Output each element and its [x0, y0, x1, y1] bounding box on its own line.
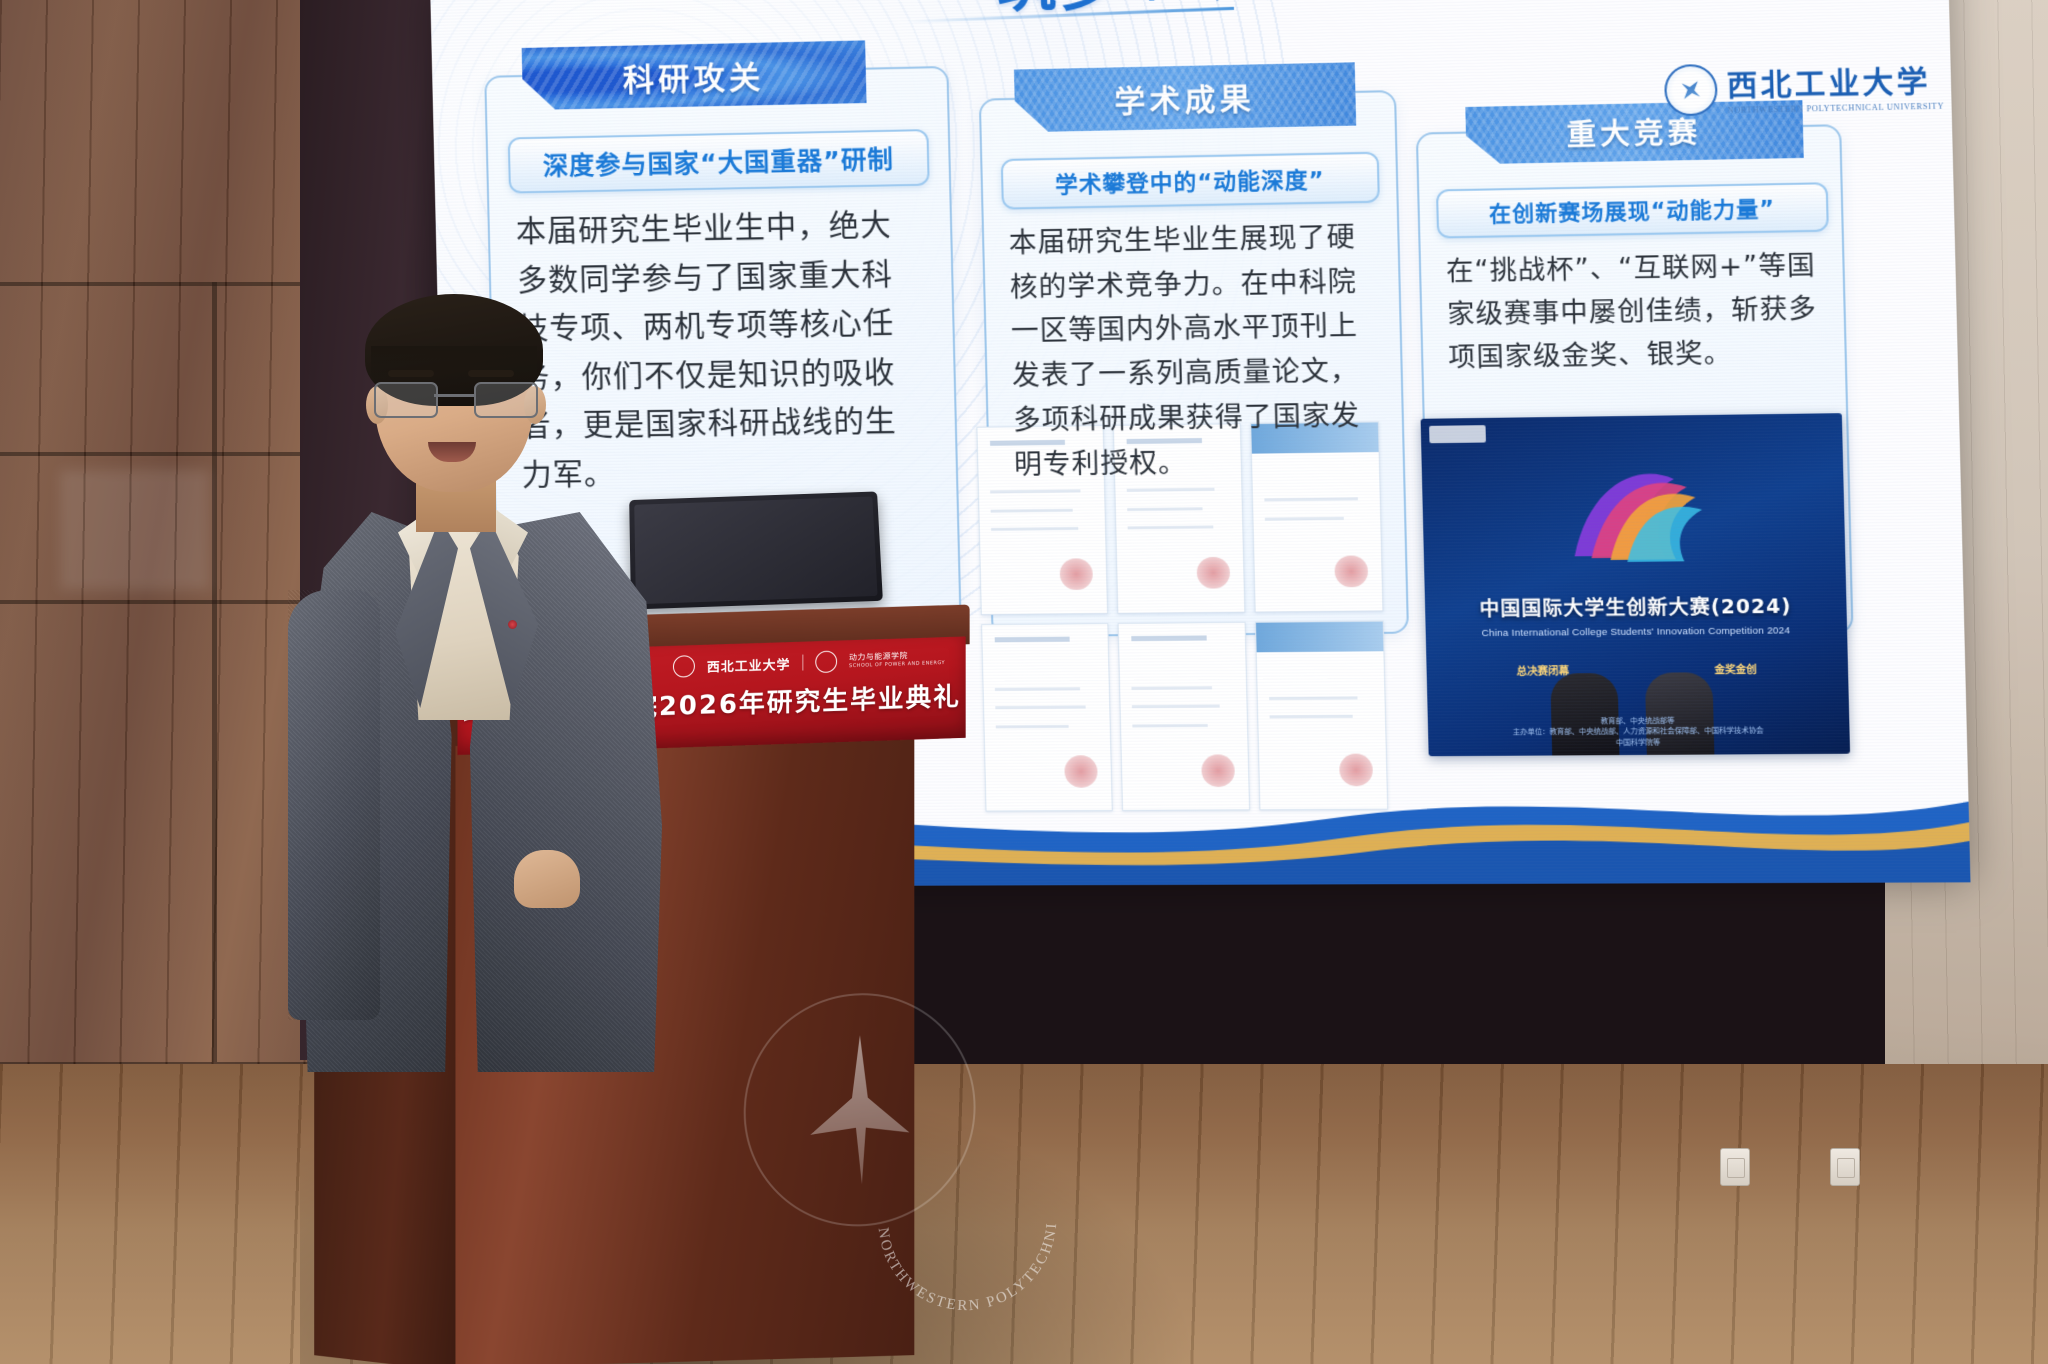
- arm-left: [288, 590, 380, 1020]
- presenter-avatar: [270, 290, 690, 1070]
- school-seal-icon-small: [815, 650, 837, 673]
- glasses-icon: [374, 382, 536, 416]
- panel-subtitle-academic-label: 学术攀登中的“动能深度”: [1055, 162, 1325, 200]
- poster-chip-right: 金奖金创: [1714, 661, 1757, 677]
- lectern-logo-university: 西北工业大学: [707, 653, 791, 675]
- lens-left: [374, 382, 438, 418]
- poster-footer: 教育部、中央统战部等 主办单位：教育部、中央统战部、人力资源和社会保障部、中国科…: [1428, 715, 1850, 750]
- panel-body-academic: 本届研究生毕业生展现了硬核的学术竞争力。在中科院一区等国内外高水平顶刊上发表了一…: [1008, 215, 1378, 487]
- panel-tab-competition-label: 重大竞赛: [1566, 110, 1702, 154]
- university-seal-icon: [1664, 63, 1718, 115]
- competition-ribbon-icon: [1547, 456, 1718, 581]
- eyebrow-right: [468, 370, 514, 377]
- logo-divider: [802, 655, 803, 671]
- panel-tab-research[interactable]: 科研攻关: [522, 40, 867, 110]
- certificate-thumbnail: [1118, 621, 1251, 811]
- slide-title-separator: /: [1148, 0, 1168, 15]
- lectern-emblem-text: NORTHWESTERN POLYTECHNICAL UNIVERSITY: [855, 1105, 1080, 1337]
- panel-subtitle-competition: 在创新赛场展现“动能力量”: [1436, 182, 1829, 238]
- panel-body-competition: 在“挑战杯”、“互联网+”等国家级赛事中屡创佳绩，斩获多项国家级金奖、银奖。: [1446, 244, 1820, 380]
- panel-subtitle-academic: 学术攀登中的“动能深度”: [1001, 152, 1380, 210]
- lens-right: [474, 382, 538, 418]
- wall-socket: [1830, 1148, 1860, 1186]
- lectern-banner-logos: 西北工业大学 动力与能源学院 SCHOOL OF POWER AND ENERG…: [673, 647, 945, 678]
- university-name-cn: 西北工业大学: [1726, 58, 1944, 106]
- competition-poster: 中国国际大学生创新大赛(2024) China International Co…: [1421, 413, 1851, 756]
- panel-tab-academic-label: 学术成果: [1114, 74, 1255, 122]
- poster-footer-line3: 中国科学院等: [1428, 737, 1850, 750]
- panel-subtitle-competition-label: 在创新赛场展现“动能力量”: [1489, 192, 1776, 228]
- wall-seam: [0, 600, 300, 604]
- poster-title-en: China International College Students' In…: [1426, 624, 1848, 639]
- certificate-thumbnail: [981, 623, 1113, 812]
- panel-tab-research-label: 科研攻关: [622, 51, 764, 99]
- panel-subtitle-research: 深度参与国家“大国重器”研制: [508, 129, 930, 194]
- poster-organizer-logo: [1429, 425, 1486, 443]
- glasses-bridge: [434, 394, 476, 397]
- poster-chip-left: 总决赛闭幕: [1516, 662, 1569, 678]
- wall-highlight: [60, 470, 210, 590]
- slide-title: 筑梦 / 致敬不负韶华的自己: [995, 0, 1645, 23]
- university-logo: 西北工业大学 NORTHWESTERN POLYTECHNICAL UNIVER…: [1664, 58, 1945, 116]
- poster-title-cn: 中国国际大学生创新大赛(2024): [1425, 590, 1847, 622]
- slide-title-sub: 致敬不负韶华的自己: [1193, 0, 1645, 10]
- eyebrow-left: [388, 370, 434, 377]
- certificate-thumbnail: [1255, 620, 1388, 810]
- panel-tab-academic[interactable]: 学术成果: [1014, 62, 1356, 132]
- screenshot-stage: 筑梦 / 致敬不负韶华的自己 科研攻关 深度参与国家“大国重器”研制 本届研究生…: [0, 0, 2048, 1364]
- wall-seam: [212, 282, 217, 1062]
- lapel-pin-icon: [508, 620, 517, 629]
- panel-subtitle-research-label: 深度参与国家“大国重器”研制: [543, 140, 895, 183]
- hand: [514, 850, 580, 908]
- wall-socket: [1720, 1148, 1750, 1186]
- slide-title-main: 筑梦: [995, 0, 1122, 23]
- svg-text:NORTHWESTERN POLYTECHNICAL UNI: NORTHWESTERN POLYTECHNICAL UNIVERSITY: [855, 1105, 1060, 1318]
- wall-seam: [0, 452, 300, 456]
